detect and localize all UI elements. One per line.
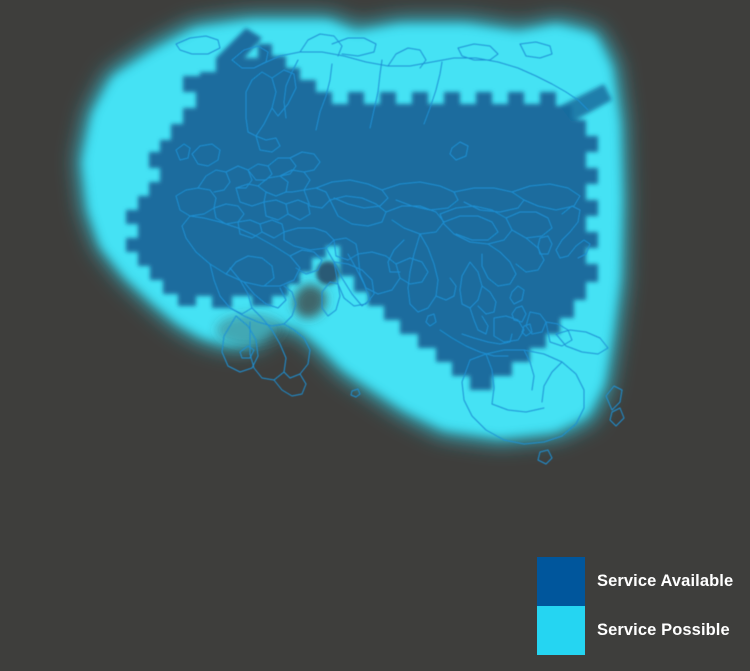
service-possible-swatch xyxy=(537,606,585,655)
legend-item-service-available[interactable]: Service Available xyxy=(537,557,733,606)
coverage-legend: Service Available Service Possible xyxy=(537,557,747,661)
legend-label-service-possible: Service Possible xyxy=(597,622,730,639)
legend-item-service-possible[interactable]: Service Possible xyxy=(537,606,730,655)
coverage-map-page: Service Available Service Possible xyxy=(0,0,750,671)
service-available-swatch xyxy=(537,557,585,606)
legend-label-service-available: Service Available xyxy=(597,573,733,590)
